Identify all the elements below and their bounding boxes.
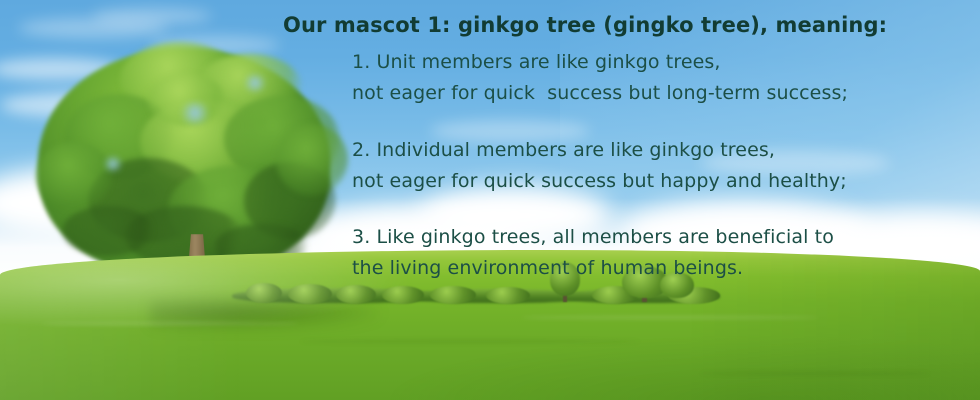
banner-line-4: not eager for quick success but happy an… bbox=[352, 170, 847, 192]
banner-headline: Our mascot 1: ginkgo tree (gingko tree),… bbox=[283, 13, 887, 37]
banner-line-5: 3. Like ginkgo trees, all members are be… bbox=[352, 226, 834, 248]
mascot-banner: Our mascot 1: ginkgo tree (gingko tree),… bbox=[0, 0, 980, 400]
banner-line-2: not eager for quick success but long-ter… bbox=[352, 82, 848, 104]
banner-line-1: 1. Unit members are like ginkgo trees, bbox=[352, 51, 721, 73]
banner-copy: Our mascot 1: ginkgo tree (gingko tree),… bbox=[0, 0, 980, 400]
banner-line-3: 2. Individual members are like ginkgo tr… bbox=[352, 139, 775, 161]
banner-line-6: the living environment of human beings. bbox=[352, 257, 743, 279]
